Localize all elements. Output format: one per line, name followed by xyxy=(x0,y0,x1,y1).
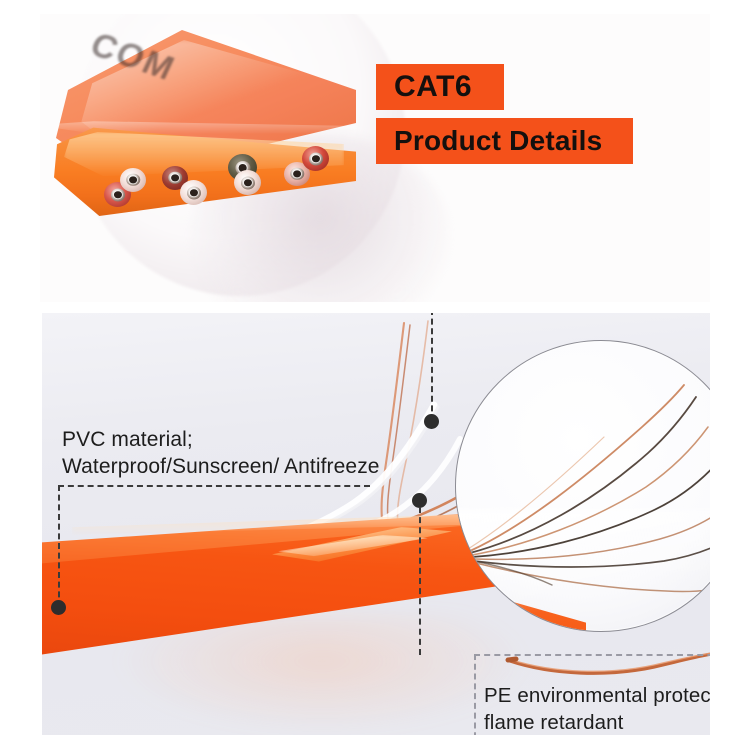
cat6-banner: CAT6 xyxy=(376,64,504,110)
pe-annotation-line1: PE environmental protection xyxy=(484,682,710,709)
bottom-panel: PVC material; Waterproof/Sunscreen/ Anti… xyxy=(42,313,710,735)
conductor-4 xyxy=(180,180,207,205)
magnified-copper-strands xyxy=(456,341,710,631)
cat6-banner-label: CAT6 xyxy=(376,70,472,104)
pe-callout-dot xyxy=(412,493,427,508)
pe-annotation-line2: flame retardant xyxy=(484,709,623,735)
product-details-banner-label: Product Details xyxy=(376,125,602,157)
pvc-leader-horizontal xyxy=(58,485,370,487)
conductor-2 xyxy=(120,168,146,192)
magnifier-circle xyxy=(455,340,710,632)
pvc-leader-vertical xyxy=(58,485,60,607)
pvc-callout-dot xyxy=(51,600,66,615)
strand-callout-dot xyxy=(424,414,439,429)
pe-leader-vertical xyxy=(419,507,421,655)
conductor-8 xyxy=(302,146,329,171)
conductor-6 xyxy=(234,170,261,195)
pvc-annotation-line2: Waterproof/Sunscreen/ Antifreeze xyxy=(62,453,380,480)
pvc-annotation-line1: PVC material; xyxy=(62,426,193,453)
product-details-banner: Product Details xyxy=(376,118,633,164)
strand-leader-vertical xyxy=(431,313,433,421)
product-detail-image: COM CAT6 Product Details xyxy=(0,0,750,750)
